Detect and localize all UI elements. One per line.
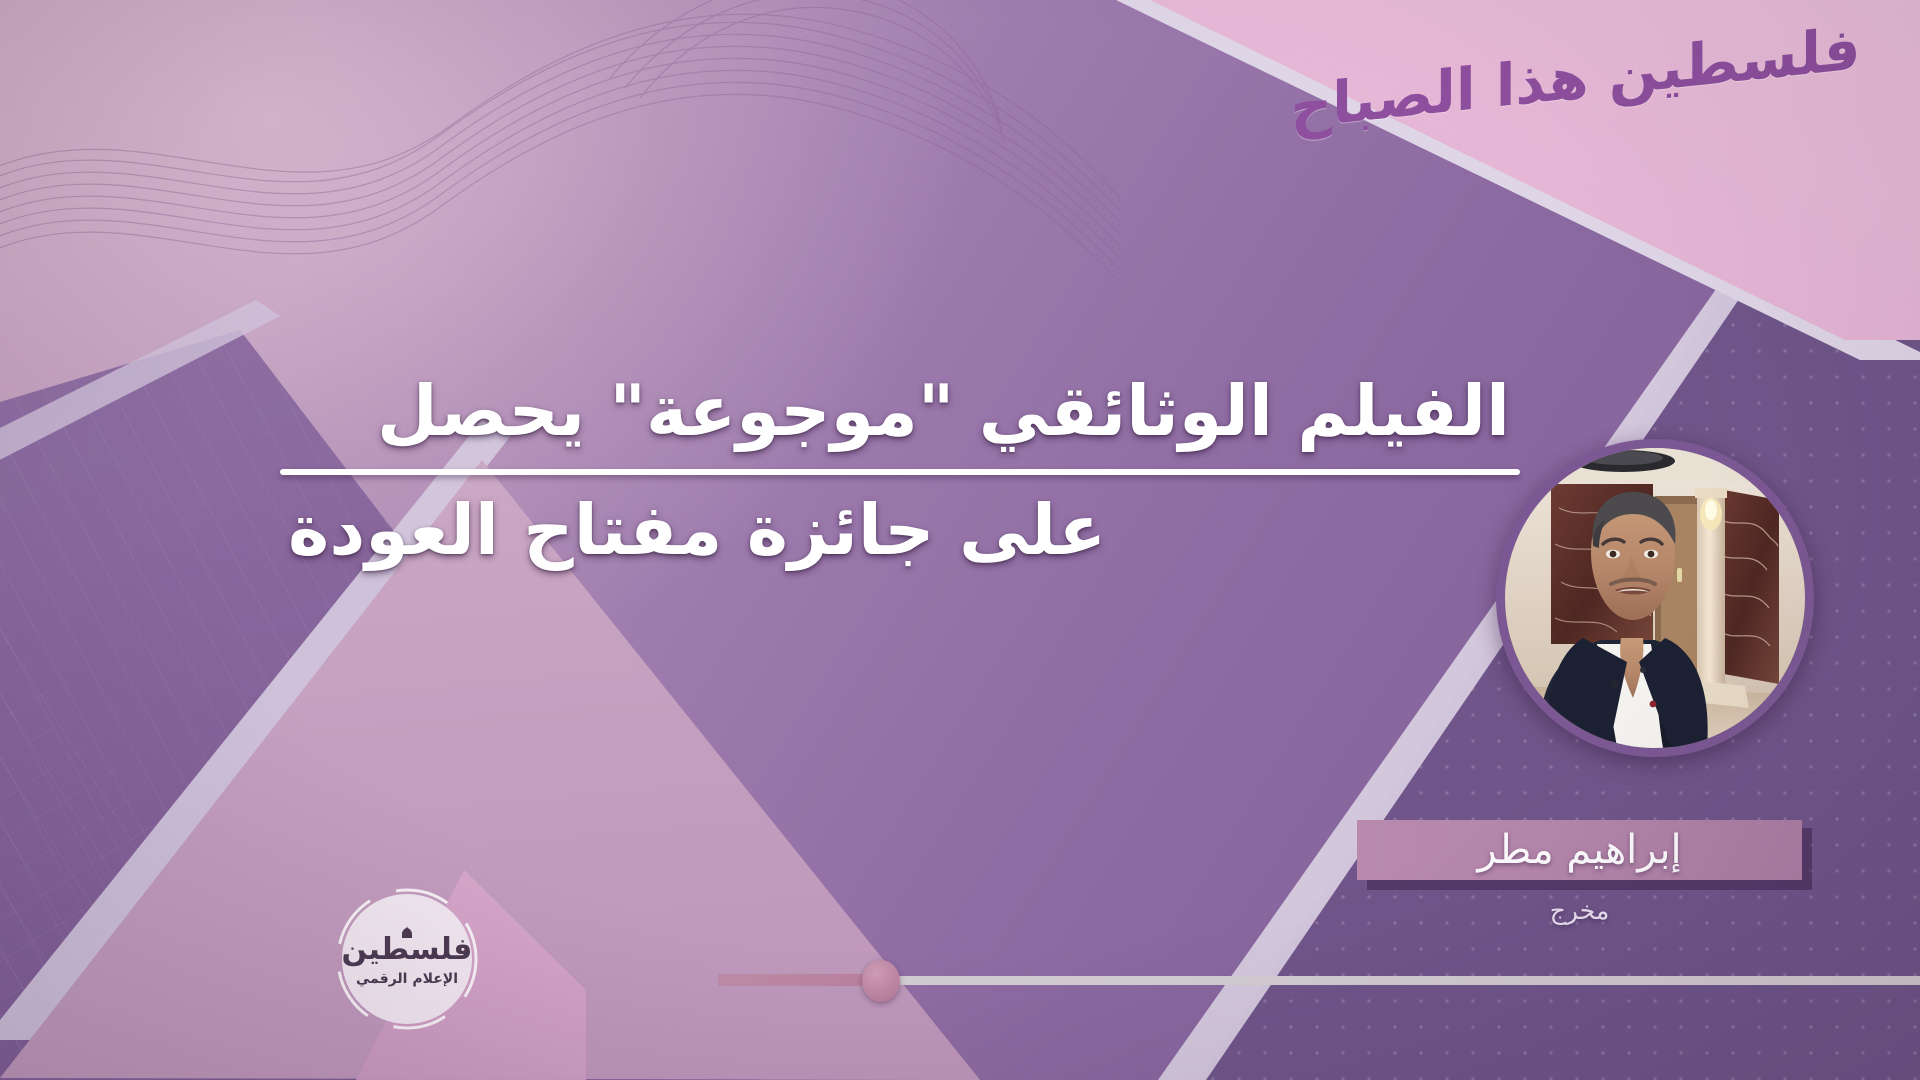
progress-bar[interactable]: [718, 972, 1920, 988]
watermark-sub-label: الإعلام الرقمي: [356, 972, 458, 986]
guest-name: إبراهيم مطر: [1477, 827, 1681, 873]
channel-watermark: فلسطين الإعلام الرقمي: [328, 880, 486, 1038]
dome-icon: [399, 926, 415, 938]
progress-handle[interactable]: [862, 960, 900, 1002]
watermark-disc: فلسطين الإعلام الرقمي: [342, 894, 472, 1024]
guest-portrait: [1505, 448, 1805, 748]
headline-line-2: على جائزة مفتاح العودة: [280, 489, 1520, 572]
headline-divider: [280, 469, 1520, 475]
headline-block: الفيلم الوثائقي "موجوعة" يحصل على جائزة …: [280, 370, 1520, 571]
wave-lines-icon: [0, 0, 1120, 290]
program-logo-text: فلسطين هذا الصباح: [1290, 14, 1860, 142]
watermark-main-text: فلسطين: [342, 935, 473, 965]
progress-fill: [718, 974, 880, 986]
program-logo: فلسطين هذا الصباح: [1302, 18, 1862, 138]
broadcast-title-card: فلسطين هذا الصباح الفيلم الوثائقي "موجوع…: [0, 0, 1920, 1080]
name-banner: إبراهيم مطر: [1357, 820, 1802, 880]
headline-line-1: الفيلم الوثائقي "موجوعة" يحصل: [280, 370, 1520, 453]
portrait-image: [1505, 448, 1805, 748]
guest-role: مخرج: [1357, 896, 1802, 925]
